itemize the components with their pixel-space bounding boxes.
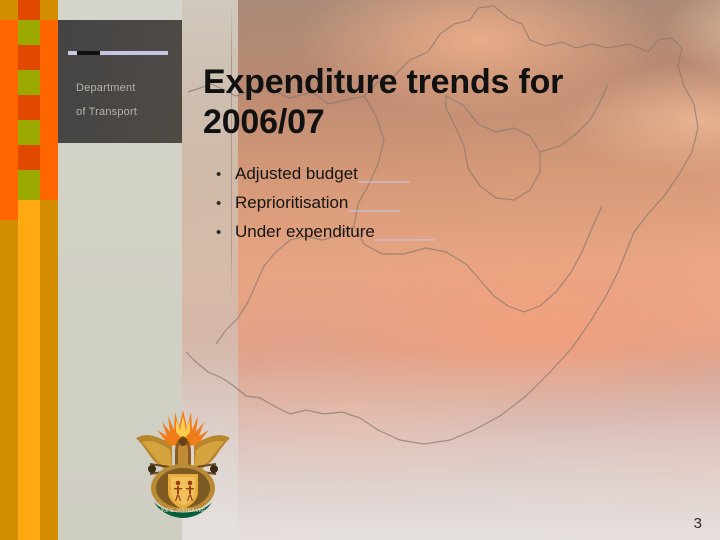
background-guide-line bbox=[231, 0, 232, 300]
stripe-band bbox=[18, 120, 40, 145]
left-colour-stripe-column bbox=[0, 0, 58, 540]
bullet-blank-fill: ______ bbox=[348, 193, 399, 213]
stripe-band bbox=[18, 20, 40, 45]
logo-rule-segment-black bbox=[77, 51, 100, 55]
bullet-blank-fill: ______ bbox=[358, 164, 409, 184]
bullet-label: Adjusted budget bbox=[235, 164, 358, 184]
stripe-band bbox=[0, 20, 18, 220]
bullet-list: • Adjusted budget ______ • Reprioritisat… bbox=[216, 164, 636, 251]
page-title-line-1: Expenditure trends for bbox=[203, 62, 673, 102]
page-number: 3 bbox=[694, 515, 702, 532]
list-item: • Adjusted budget ______ bbox=[216, 164, 636, 184]
logo-rule-segment-lilac-right bbox=[100, 51, 168, 55]
department-logo-panel: Department of Transport bbox=[58, 20, 182, 143]
stripe-column-right bbox=[40, 0, 58, 540]
stripe-band bbox=[18, 170, 40, 200]
coat-of-arms-motto: !KE E: /XARRA //KE bbox=[161, 508, 206, 514]
stripe-band bbox=[18, 145, 40, 170]
bullet-dot-icon: • bbox=[216, 225, 235, 240]
bullet-dot-icon: • bbox=[216, 196, 235, 211]
page-title: Expenditure trends for 2006/07 bbox=[203, 62, 673, 142]
stripe-column-left bbox=[0, 0, 18, 540]
stripe-column-middle bbox=[18, 0, 40, 540]
stripe-band bbox=[18, 70, 40, 95]
bullet-dot-icon: • bbox=[216, 167, 235, 182]
south-african-coat-of-arms-icon: !KE E: /XARRA //KE bbox=[128, 406, 238, 518]
logo-rule-segment-lilac-left bbox=[68, 51, 77, 55]
bullet-blank-fill: _______ bbox=[375, 222, 434, 242]
list-item: • Reprioritisation ______ bbox=[216, 193, 636, 213]
stripe-band bbox=[18, 0, 40, 20]
list-item: • Under expenditure _______ bbox=[216, 222, 636, 242]
logo-rule-graphic bbox=[68, 51, 168, 55]
department-name-line-2: of Transport bbox=[76, 106, 137, 118]
stripe-band bbox=[18, 45, 40, 70]
bullet-label: Reprioritisation bbox=[235, 193, 348, 213]
department-name-line-1: Department bbox=[76, 82, 135, 94]
stripe-band bbox=[40, 20, 58, 200]
bullet-label: Under expenditure bbox=[235, 222, 375, 242]
page-title-line-2: 2006/07 bbox=[203, 102, 673, 142]
slide-canvas: Department of Transport Expenditure tren… bbox=[0, 0, 720, 540]
stripe-band bbox=[18, 95, 40, 120]
